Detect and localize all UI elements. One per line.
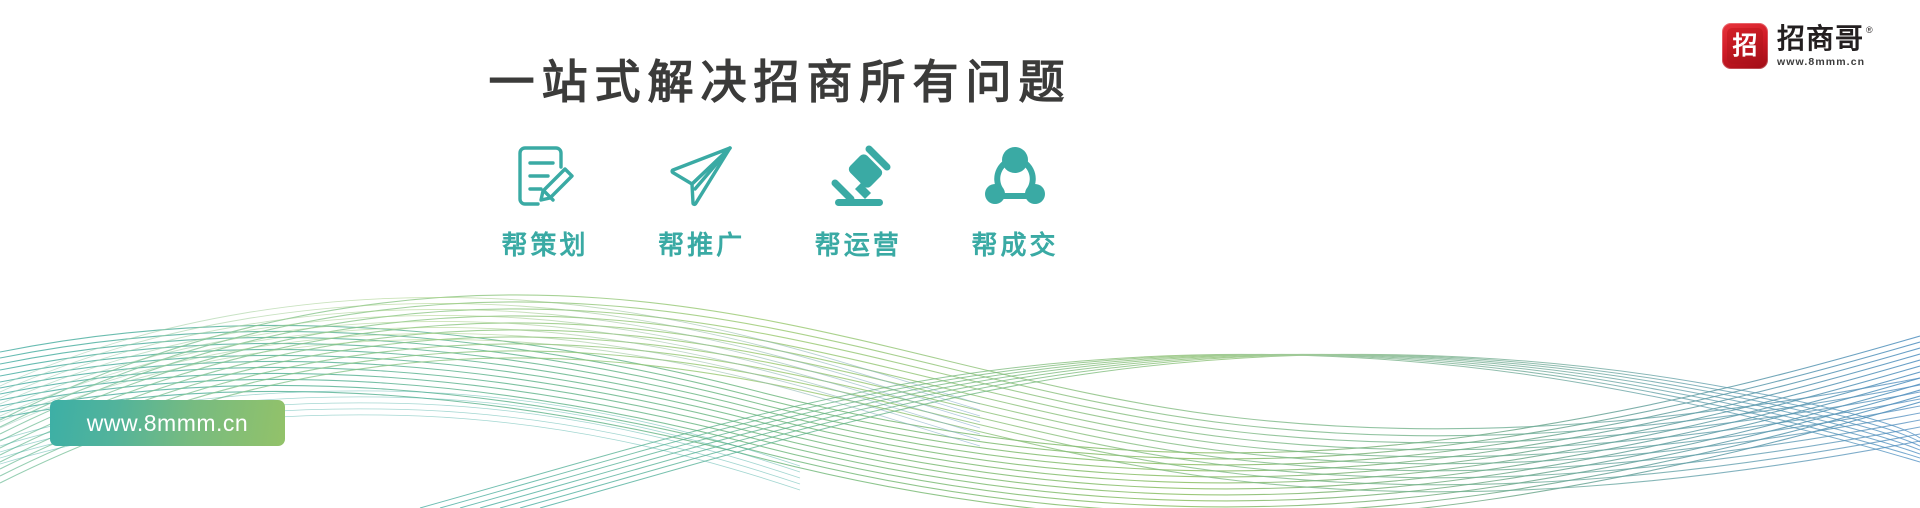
logo-name-row: 招商哥 ® bbox=[1777, 24, 1873, 54]
logo-brand-name: 招商哥 bbox=[1777, 24, 1864, 54]
feature-item-deal-closing[interactable]: 帮成交 bbox=[940, 138, 1090, 260]
brand-logo[interactable]: 招 招商哥 ® www.8mmm.cn bbox=[1722, 21, 1873, 71]
logo-text-block: 招商哥 ® www.8mmm.cn bbox=[1777, 24, 1873, 68]
feature-label: 帮运营 bbox=[815, 230, 902, 260]
feature-item-promotion[interactable]: 帮推广 bbox=[627, 138, 777, 260]
logo-url: www.8mmm.cn bbox=[1777, 56, 1873, 68]
feature-label: 帮推广 bbox=[658, 230, 745, 260]
gavel-icon bbox=[821, 138, 895, 214]
website-url-text: www.8mmm.cn bbox=[87, 410, 248, 436]
feature-item-operations[interactable]: 帮运营 bbox=[783, 138, 933, 260]
feature-row: 帮策划 帮推广 bbox=[470, 138, 1090, 260]
feature-label: 帮成交 bbox=[971, 230, 1058, 260]
feature-item-planning[interactable]: 帮策划 bbox=[470, 138, 620, 260]
network-people-icon bbox=[978, 138, 1052, 214]
document-pencil-icon bbox=[508, 138, 582, 214]
website-url-badge[interactable]: www.8mmm.cn bbox=[50, 400, 285, 446]
paper-plane-icon bbox=[665, 138, 739, 214]
page-title: 一站式解决招商所有问题 bbox=[0, 54, 1560, 110]
promo-banner: 招 招商哥 ® www.8mmm.cn 一站式解决招商所有问题 bbox=[0, 0, 1920, 508]
logo-mark-character: 招 bbox=[1727, 28, 1763, 64]
registered-trademark-icon: ® bbox=[1866, 25, 1873, 35]
logo-mark-icon: 招 bbox=[1722, 23, 1768, 69]
feature-label: 帮策划 bbox=[501, 230, 588, 260]
